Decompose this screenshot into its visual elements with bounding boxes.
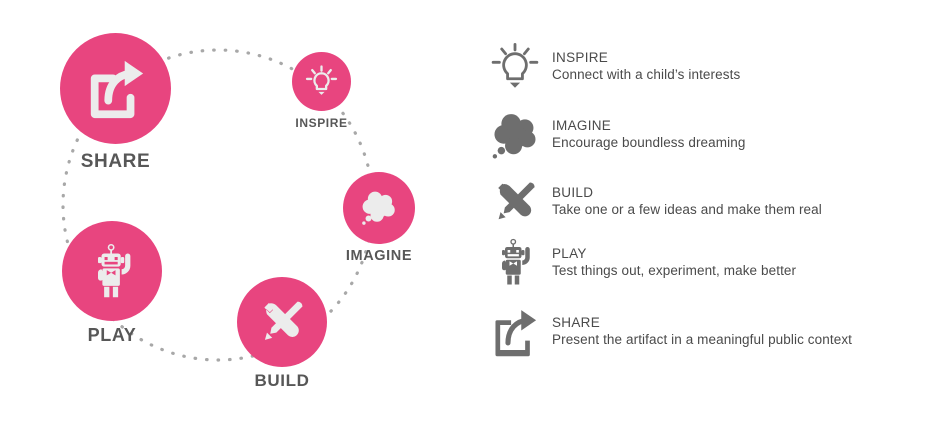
cycle-node-inspire[interactable]: INSPIRE (292, 52, 351, 162)
wrench-screwdriver-icon (256, 296, 308, 348)
play-label: PLAY (88, 325, 137, 346)
thought-cloud-icon (358, 187, 400, 229)
legend-desc: Test things out, experiment, make better (552, 262, 940, 280)
legend-desc: Connect with a child’s interests (552, 66, 940, 84)
robot-icon (84, 243, 140, 299)
legend-row-inspire: INSPIRE Connect with a child’s interests (490, 42, 940, 92)
build-label: BUILD (255, 371, 310, 391)
share-arrow-icon (490, 307, 552, 357)
cycle-diagram: SHARE INSPIRE (0, 0, 470, 405)
legend-text-inspire: INSPIRE Connect with a child’s interests (552, 42, 940, 84)
legend-desc: Present the artifact in a meaningful pub… (552, 331, 940, 349)
legend-title: SHARE (552, 314, 940, 331)
legend-row-play: PLAY Test things out, experiment, make b… (490, 238, 940, 286)
share-label: SHARE (81, 151, 151, 173)
build-circle[interactable] (237, 277, 327, 367)
cycle-node-imagine[interactable]: IMAGINE (343, 172, 415, 302)
thought-cloud-icon (490, 110, 552, 162)
legend-title: BUILD (552, 184, 940, 201)
legend-desc: Take one or a few ideas and make them re… (552, 201, 940, 219)
cycle-node-share[interactable]: SHARE (60, 33, 171, 213)
legend-title: INSPIRE (552, 49, 940, 66)
legend-text-build: BUILD Take one or a few ideas and make t… (552, 177, 940, 219)
legend-row-build: BUILD Take one or a few ideas and make t… (490, 177, 940, 227)
share-arrow-icon (85, 58, 147, 120)
legend-text-imagine: IMAGINE Encourage boundless dreaming (552, 110, 940, 152)
imagine-label: IMAGINE (346, 248, 412, 264)
legend-list: INSPIRE Connect with a child’s interests (490, 0, 940, 405)
inspire-circle[interactable] (292, 52, 351, 111)
legend-row-share: SHARE Present the artifact in a meaningf… (490, 307, 940, 357)
legend-text-play: PLAY Test things out, experiment, make b… (552, 238, 940, 280)
lightbulb-icon (305, 65, 338, 98)
legend-text-share: SHARE Present the artifact in a meaningf… (552, 307, 940, 349)
robot-icon (490, 238, 552, 286)
legend-desc: Encourage boundless dreaming (552, 134, 940, 152)
lightbulb-icon (490, 42, 552, 92)
wrench-screwdriver-icon (490, 177, 552, 227)
inspire-label: INSPIRE (295, 116, 347, 130)
share-circle[interactable] (60, 33, 171, 144)
legend-row-imagine: IMAGINE Encourage boundless dreaming (490, 110, 940, 162)
legend-title: PLAY (552, 245, 940, 262)
legend-title: IMAGINE (552, 117, 940, 134)
play-circle[interactable] (62, 221, 162, 321)
cycle-node-play[interactable]: PLAY (62, 221, 162, 381)
imagine-circle[interactable] (343, 172, 415, 244)
